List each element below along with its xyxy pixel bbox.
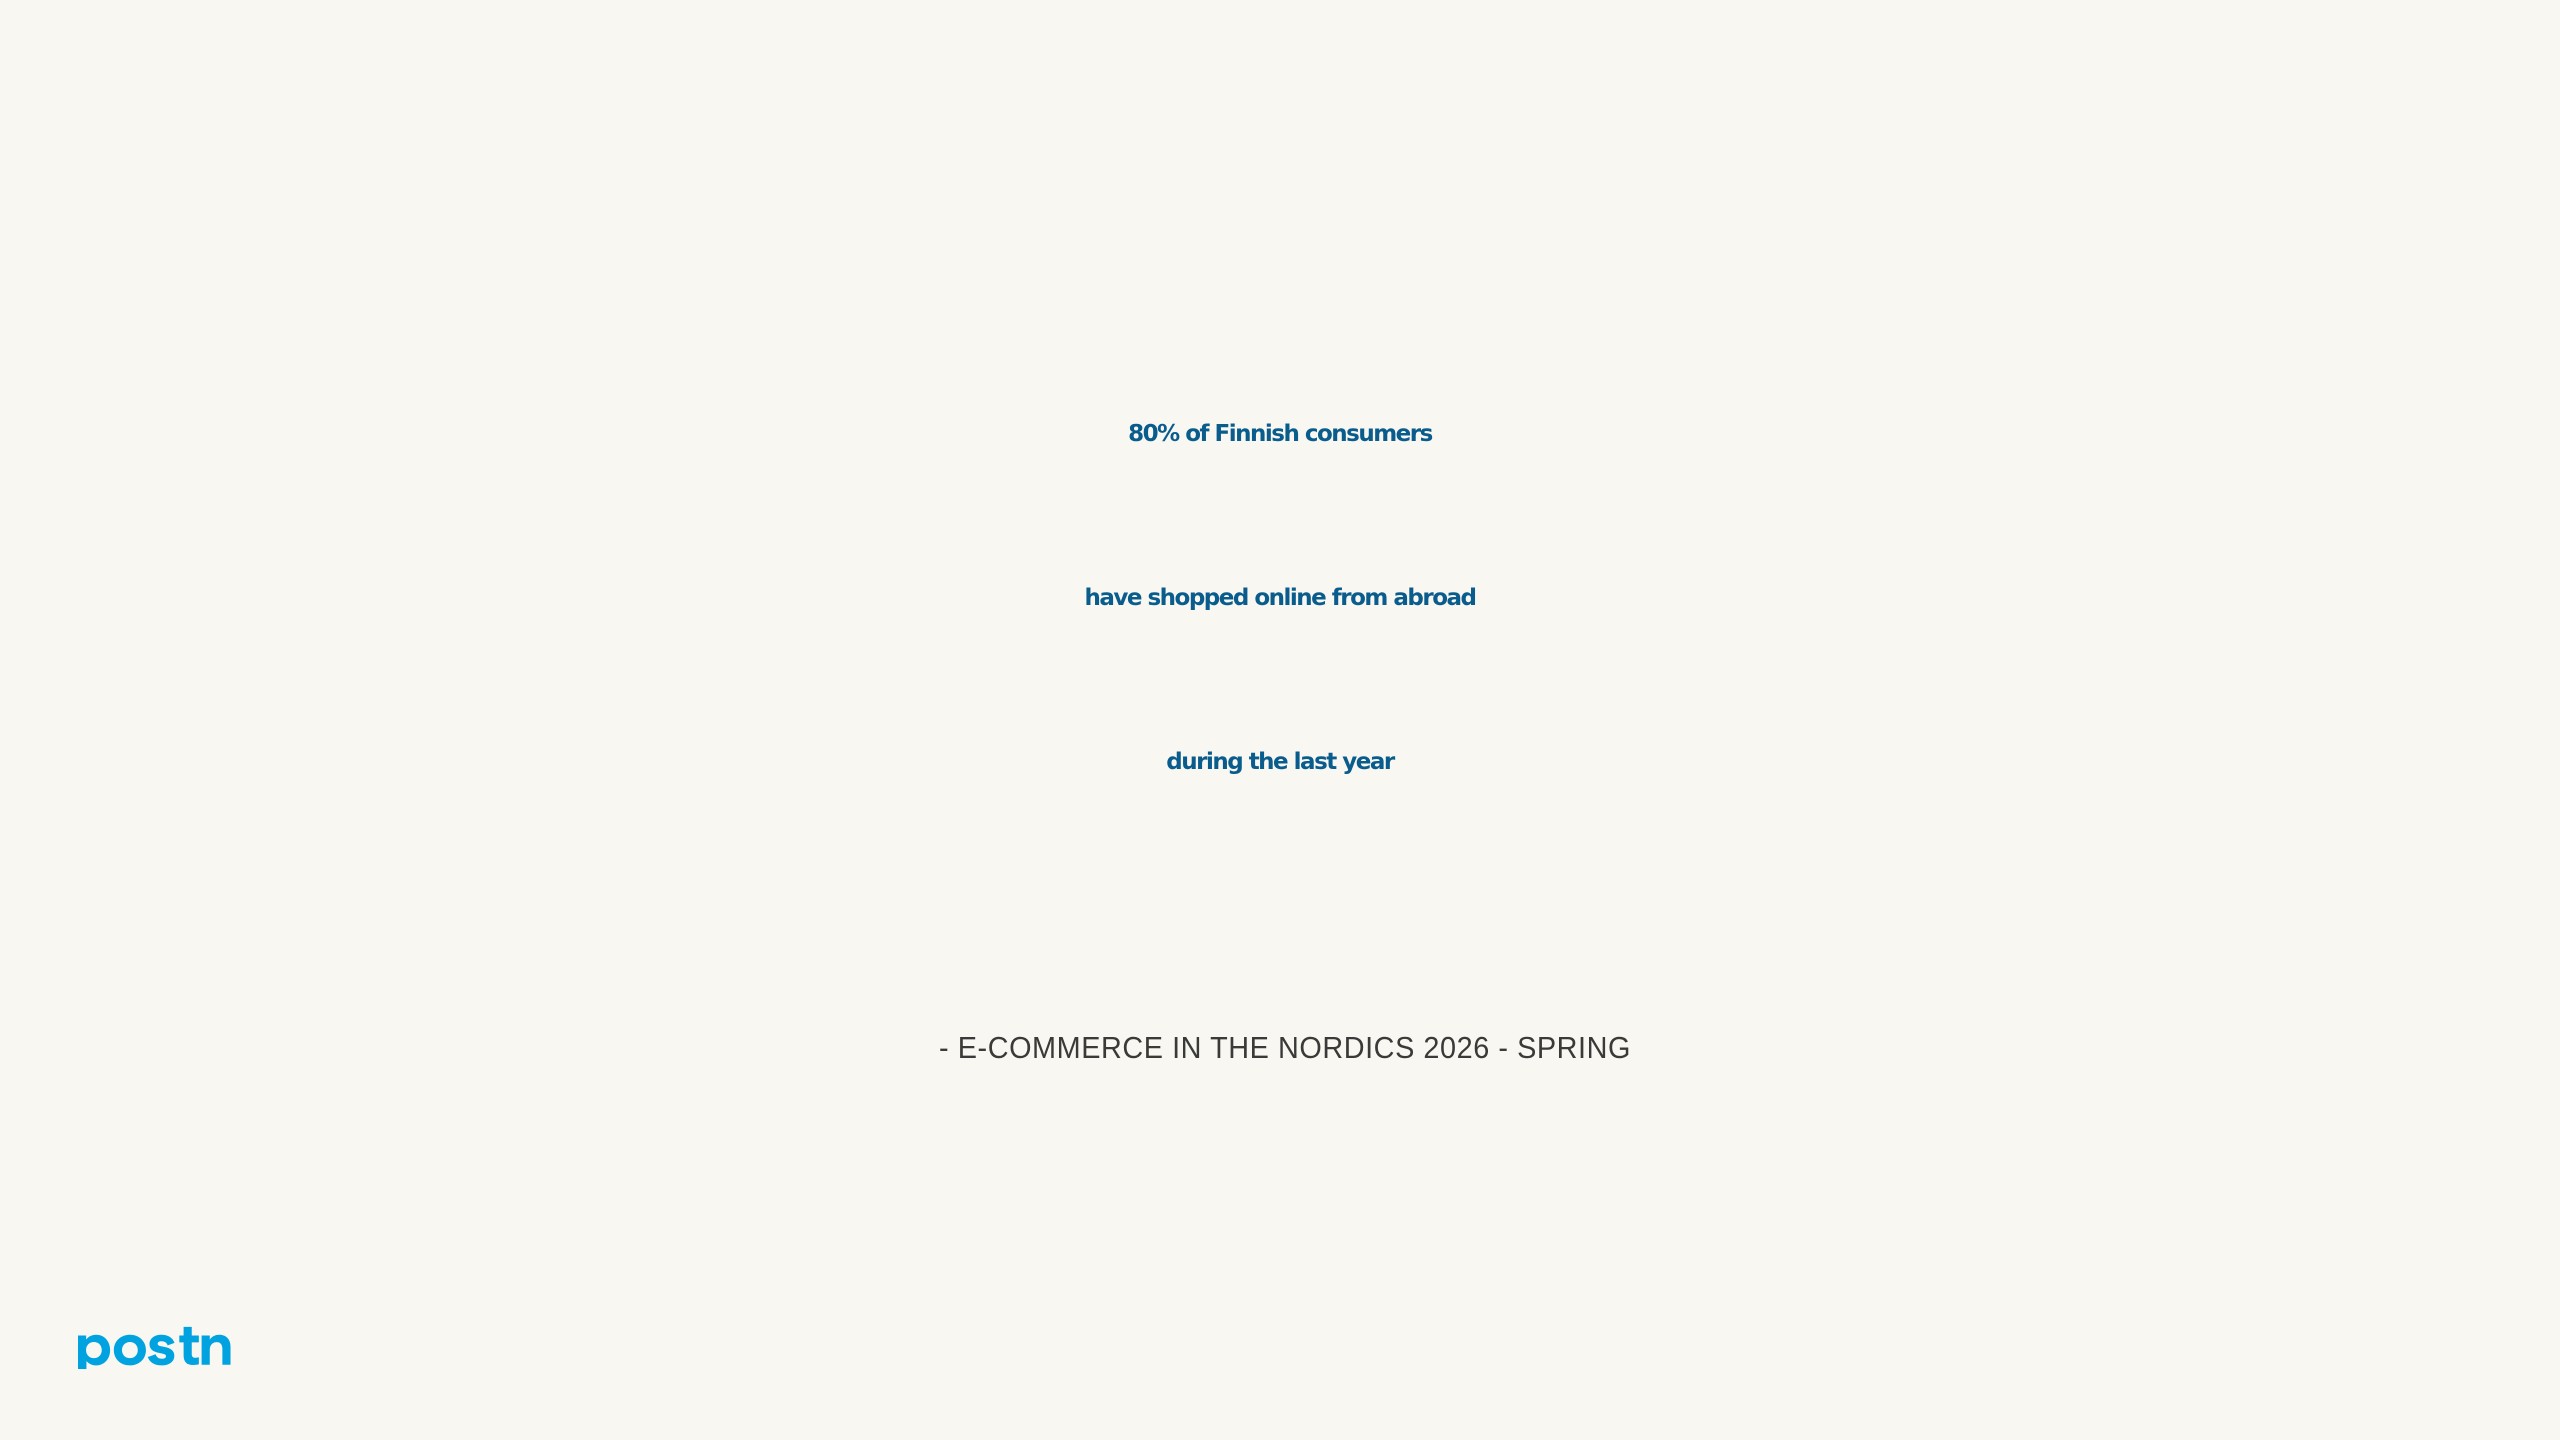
postnord-wordmark-icon: [78, 1323, 236, 1369]
headline-line-1: 80% of Finnish consumers: [0, 352, 2560, 516]
source-attribution: - E-COMMERCE IN THE NORDICS 2026 - SPRIN…: [90, 1030, 2480, 1066]
page-title: 80% of Finnish consumers have shopped on…: [0, 352, 2560, 844]
slide-canvas: 80% of Finnish consumers have shopped on…: [0, 0, 2560, 1440]
headline-line-3: during the last year: [0, 680, 2560, 844]
headline-line-2: have shopped online from abroad: [0, 516, 2560, 680]
postnord-logo: postnord: [78, 1322, 236, 1370]
